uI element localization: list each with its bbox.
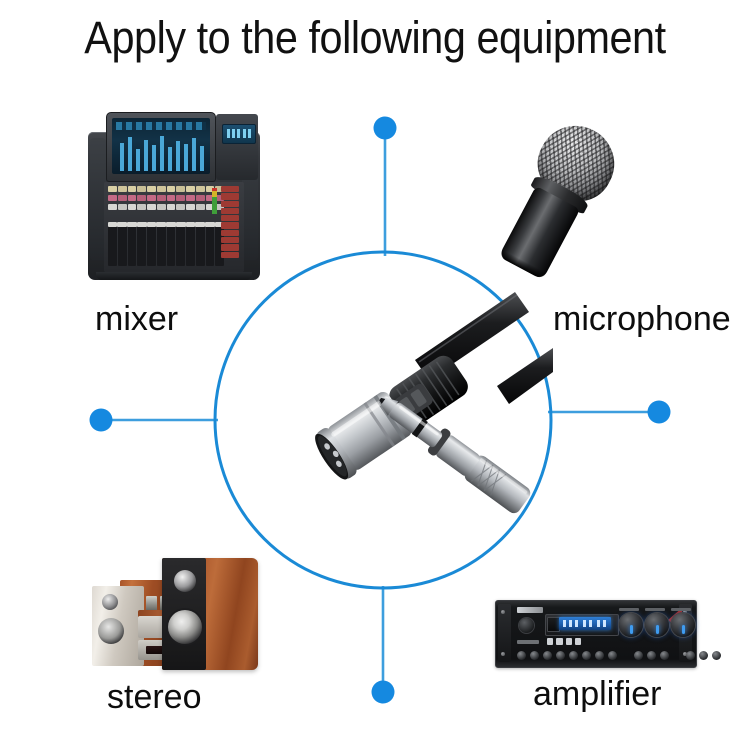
stereo-left-woofer bbox=[98, 618, 124, 644]
equipment-label-microphone: microphone bbox=[553, 300, 731, 339]
amplifier-knob-mic-vol bbox=[619, 613, 643, 637]
mixer-scene-buttons bbox=[221, 186, 239, 258]
stereo-image bbox=[62, 552, 294, 680]
equipment-label-stereo: stereo bbox=[107, 678, 202, 717]
node-bottom bbox=[372, 681, 395, 704]
amplifier-lcd-display bbox=[559, 617, 611, 630]
amplifier-preset-buttons bbox=[547, 638, 581, 645]
amplifier-model-text bbox=[517, 640, 539, 644]
stereo-right-woofer bbox=[168, 610, 202, 644]
stereo-left-tweeter bbox=[102, 594, 118, 610]
mixer-button-row-3 bbox=[108, 204, 224, 210]
mixer-lcd-screen bbox=[112, 118, 210, 174]
amplifier-knob-echo bbox=[645, 613, 669, 637]
microphone-image bbox=[500, 128, 650, 278]
product-audio-cable bbox=[215, 252, 553, 590]
stereo-right-tweeter bbox=[174, 570, 196, 592]
mixer-lcd-toolbar bbox=[116, 122, 206, 130]
amplifier-image bbox=[495, 600, 695, 666]
quarter-inch-ts-plug bbox=[371, 387, 533, 516]
equipment-label-amplifier: amplifier bbox=[533, 675, 661, 714]
node-right bbox=[648, 401, 671, 424]
node-left bbox=[90, 409, 113, 432]
cable-lower bbox=[497, 348, 553, 404]
mixer-faders bbox=[108, 222, 224, 266]
mixer-image bbox=[88, 112, 260, 280]
amplifier-small-knob-row bbox=[517, 650, 677, 660]
amplifier-volume-knob bbox=[519, 618, 534, 633]
equipment-label-mixer: mixer bbox=[95, 300, 178, 339]
node-top bbox=[374, 117, 397, 140]
amplifier-brand-logo bbox=[517, 607, 543, 613]
page-title: Apply to the following equipment bbox=[30, 12, 720, 64]
mixer-button-row-2 bbox=[108, 195, 224, 201]
mixer-level-meter bbox=[212, 188, 217, 214]
amplifier-knob-master-vol bbox=[671, 613, 695, 637]
mixer-screen-housing bbox=[106, 112, 216, 182]
mixer-base-foot bbox=[96, 272, 252, 280]
infographic-page: Apply to the following equipment bbox=[0, 0, 750, 750]
mixer-secondary-display bbox=[222, 124, 256, 144]
mixer-button-row-1 bbox=[108, 186, 224, 192]
